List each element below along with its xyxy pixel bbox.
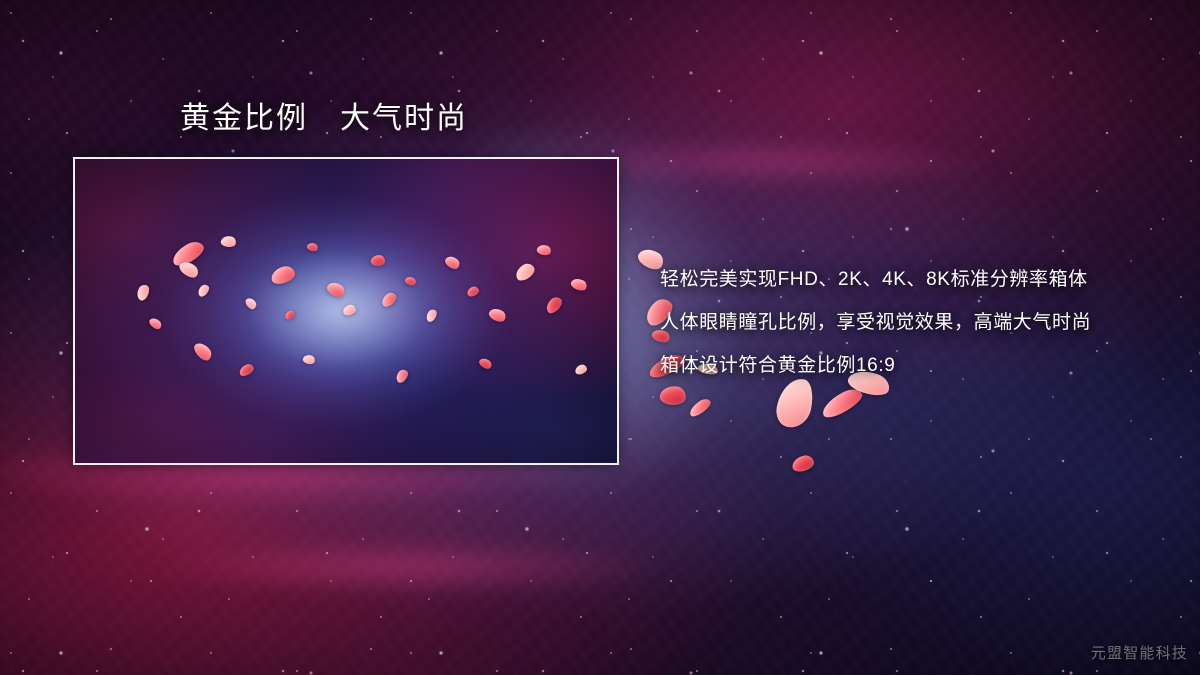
description-line-1: 轻松完美实现FHD、2K、4K、8K标准分辨率箱体 (660, 258, 1180, 301)
page-title: 黄金比例 大气时尚 (180, 101, 468, 136)
feature-description: 轻松完美实现FHD、2K、4K、8K标准分辨率箱体 人体眼睛瞳孔比例，享受视觉效… (660, 258, 1180, 387)
golden-ratio-frame (73, 157, 619, 465)
presentation-slide: 黄金比例 大气时尚 轻松完美实现FHD、2K、4K、8K标准分辨率箱体 人体眼睛… (0, 0, 1200, 675)
description-line-2: 人体眼睛瞳孔比例，享受视觉效果，高端大气时尚 (660, 301, 1180, 344)
description-line-3: 箱体设计符合黄金比例16:9 (660, 344, 1180, 387)
brand-watermark: 元盟智能科技 (1091, 642, 1188, 663)
